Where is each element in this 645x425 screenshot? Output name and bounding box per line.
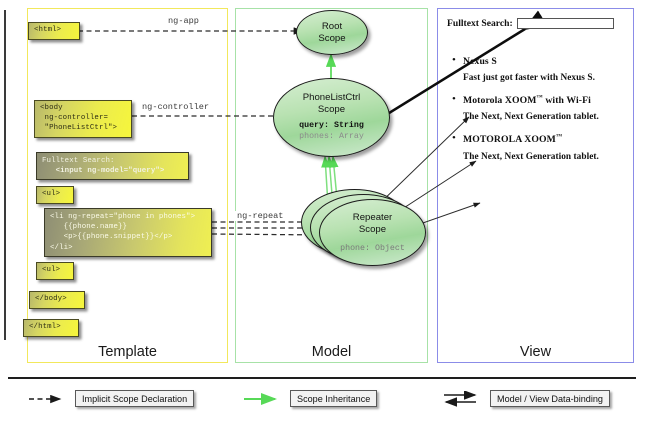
prop-phone: phone: Object xyxy=(340,244,405,253)
phonelistctrl-scope-title-line2: Scope xyxy=(318,104,345,115)
legend-label: Model / View Data-binding xyxy=(490,390,610,407)
legend-divider xyxy=(8,377,636,379)
view-rendered-output: Fulltext Search: Nexus S Fast just got f… xyxy=(447,18,627,173)
phone-snippet: The Next, Next Generation tablet. xyxy=(463,112,627,122)
phone-title-text: MOTOROLA XOOM xyxy=(463,135,556,146)
li-ng-repeat-box: <li ng-repeat="phone in phones"> {{phone… xyxy=(44,208,212,257)
green-arrow-icon xyxy=(243,393,283,405)
html-open-tag-box: <html> xyxy=(28,22,80,40)
legend-label: Scope Inheritance xyxy=(290,390,377,407)
fulltext-search-input[interactable] xyxy=(517,18,614,29)
diagram-canvas: <html> <body ng-controller= "PhoneListCt… xyxy=(0,0,645,425)
panel-model xyxy=(235,8,428,363)
phonelistctrl-scope-title: PhoneListCtrl Scope xyxy=(303,92,361,115)
phone-title: Nexus S xyxy=(463,55,627,67)
html-close-tag-box: </html> xyxy=(23,319,79,337)
prop-query: query: String xyxy=(299,121,364,132)
phone-title-text: Nexus S xyxy=(463,56,497,67)
root-scope-ellipse: Root Scope xyxy=(296,10,368,55)
repeater-scope-title: Repeater Scope xyxy=(353,212,392,235)
legend-model-view-data-binding: Model / View Data-binding xyxy=(443,390,610,407)
panel-label-model: Model xyxy=(235,344,428,360)
phone-title: Motorola XOOM™ with Wi-Fi xyxy=(463,94,627,106)
panel-label-view: View xyxy=(437,344,634,360)
left-edge-tick xyxy=(4,10,6,340)
view-search-label: Fulltext Search: xyxy=(447,18,513,29)
root-scope-title: Root Scope xyxy=(318,21,345,44)
fulltext-search-input-line: <input ng-model="query"> xyxy=(42,167,164,175)
phonelistctrl-scope-title-line1: PhoneListCtrl xyxy=(303,92,361,103)
list-item[interactable]: MOTOROLA XOOM™ The Next, Next Generation… xyxy=(463,133,627,161)
fulltext-search-label-line: Fulltext Search: xyxy=(42,157,115,165)
ul-open-tag-box: <ul> xyxy=(36,186,74,204)
panel-label-template: Template xyxy=(27,344,228,360)
root-scope-title-line1: Root xyxy=(322,21,342,32)
phonelistctrl-scope-ellipse: PhoneListCtrl Scope query: String phones… xyxy=(273,78,390,157)
list-item[interactable]: Nexus S Fast just got faster with Nexus … xyxy=(463,55,627,83)
prop-phones: phones: Array xyxy=(299,132,364,143)
view-search-row: Fulltext Search: xyxy=(447,18,627,29)
repeater-scope-title-line2: Scope xyxy=(359,224,386,235)
phone-list: Nexus S Fast just got faster with Nexus … xyxy=(447,55,627,162)
label-ng-controller: ng-controller xyxy=(140,102,211,112)
repeater-scope-title-line1: Repeater xyxy=(353,212,392,223)
legend-scope-inheritance: Scope Inheritance xyxy=(243,390,377,407)
legend-implicit-scope-declaration: Implicit Scope Declaration xyxy=(28,390,194,407)
dashed-arrow-icon xyxy=(28,393,68,405)
root-scope-title-line2: Scope xyxy=(318,33,345,44)
body-open-tag-box: <body ng-controller= "PhoneListCtrl"> xyxy=(34,100,132,138)
ul-close-tag-box: <ul> xyxy=(36,262,74,280)
phone-snippet: Fast just got faster with Nexus S. xyxy=(463,73,627,83)
phone-title-suffix: with Wi-Fi xyxy=(543,95,591,106)
label-ng-repeat: ng-repeat xyxy=(235,211,285,221)
phonelistctrl-scope-props: query: String phones: Array xyxy=(299,121,364,143)
list-item[interactable]: Motorola XOOM™ with Wi-Fi The Next, Next… xyxy=(463,94,627,122)
phone-snippet: The Next, Next Generation tablet. xyxy=(463,152,627,162)
phone-title-text: Motorola XOOM xyxy=(463,95,537,106)
body-close-tag-box: </body> xyxy=(29,291,85,309)
fulltext-search-snippet-box: Fulltext Search: <input ng-model="query"… xyxy=(36,152,189,180)
phone-title: MOTOROLA XOOM™ xyxy=(463,133,627,145)
trademark-icon: ™ xyxy=(556,133,562,140)
repeater-scope-ellipse: Repeater Scope phone: Object xyxy=(319,199,426,266)
double-arrow-icon xyxy=(443,391,483,407)
legend-label: Implicit Scope Declaration xyxy=(75,390,194,407)
label-ng-app: ng-app xyxy=(166,16,201,26)
